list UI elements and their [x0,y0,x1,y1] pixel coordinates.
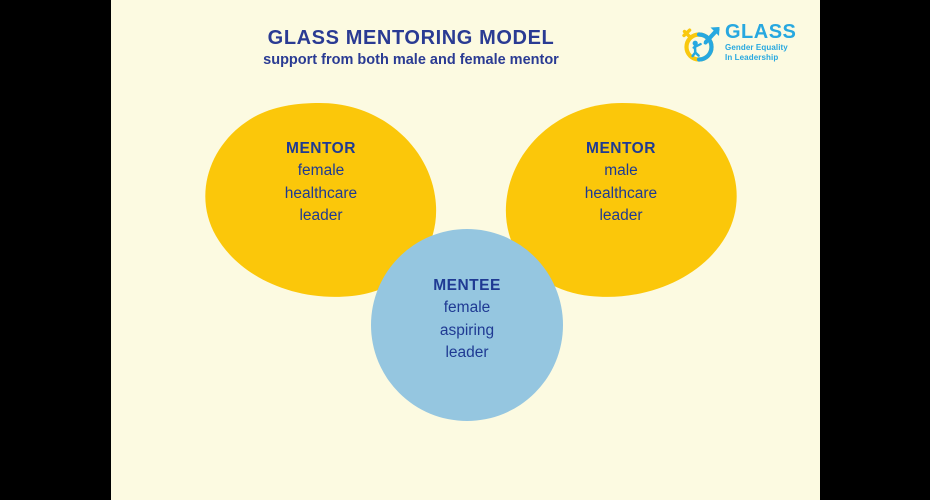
slide-content-area: GLASS MENTORING MODEL support from both … [111,0,820,500]
page-title: GLASS MENTORING MODEL support from both … [111,26,711,70]
logo-tagline-line1: Gender Equality [725,43,809,53]
logo-wordmark: GLASS [725,22,809,43]
slide-canvas: GLASS MENTORING MODEL support from both … [0,0,930,500]
title-main: GLASS MENTORING MODEL [111,26,711,50]
pillarbox-left [0,0,111,500]
logo-text-group: GLASS Gender Equality In Leadership [725,22,809,63]
pillarbox-right [820,0,930,500]
circle-shape-mentee [370,228,564,422]
glass-logo: GLASS Gender Equality In Leadership [681,20,806,68]
logo-tagline-line2: In Leadership [725,53,809,63]
title-subtitle: support from both male and female mentor [111,51,711,70]
node-mentee-female: MENTEE female aspiring leader [370,228,564,422]
glass-logo-icon [681,23,723,65]
